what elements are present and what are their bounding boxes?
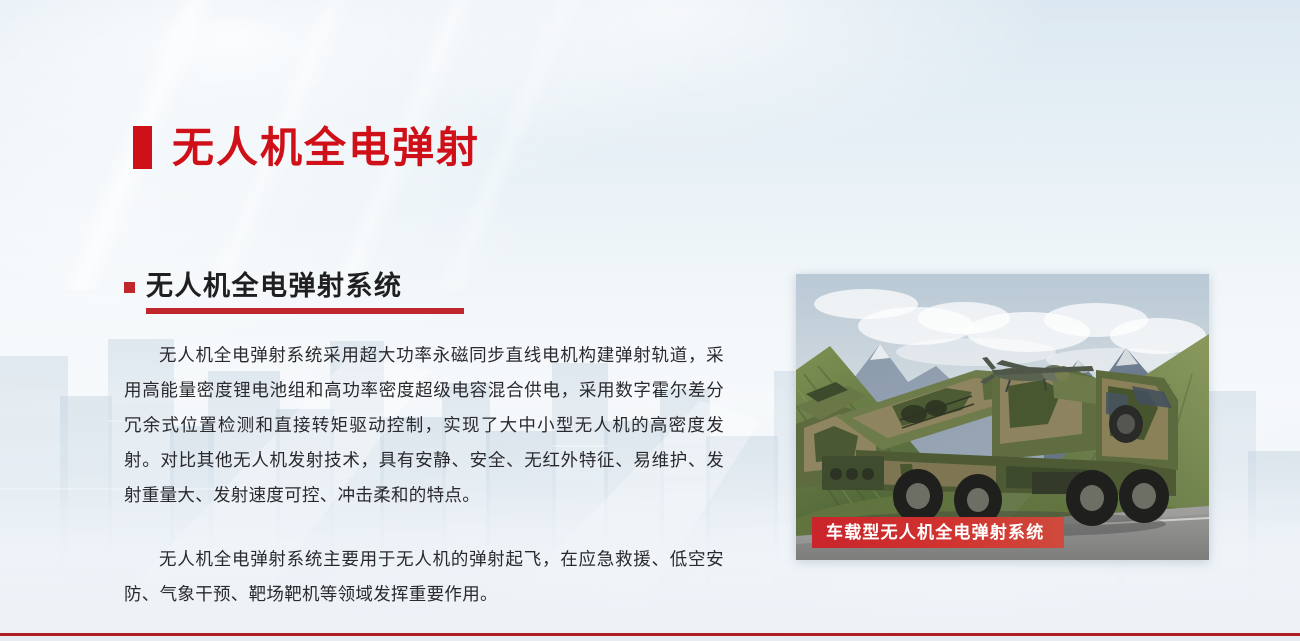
photo-caption-text: 车载型无人机全电弹射系统 [826, 524, 1044, 541]
title-text: 无人机全电弹射 [172, 127, 480, 169]
photo-card[interactable]: 车载型无人机全电弹射系统 [796, 274, 1209, 560]
section-heading-underline [146, 308, 464, 314]
footer-red-rule [0, 633, 1300, 636]
footer-strip [0, 636, 1300, 641]
content-column: 无人机全电弹射系统 无人机全电弹射系统采用超大功率永磁同步直线电机构建弹射轨道，… [124, 272, 724, 612]
photo-caption-banner: 车载型无人机全电弹射系统 [812, 517, 1064, 548]
slide-canvas: 无人机全电弹射 无人机全电弹射系统 无人机全电弹射系统采用超大功率永磁同步直线电… [0, 0, 1300, 641]
body-paragraph-1: 无人机全电弹射系统采用超大功率永磁同步直线电机构建弹射轨道，采用高能量密度锂电池… [124, 338, 724, 513]
section-heading-text: 无人机全电弹射系统 [146, 272, 403, 302]
page-title: 无人机全电弹射 [133, 126, 480, 169]
square-bullet-icon [124, 282, 135, 293]
body-paragraph-2: 无人机全电弹射系统主要用于无人机的弹射起飞，在应急救援、低空安防、气象干预、靶场… [124, 542, 724, 612]
section-heading: 无人机全电弹射系统 [124, 272, 724, 302]
title-accent-bar [133, 126, 152, 169]
